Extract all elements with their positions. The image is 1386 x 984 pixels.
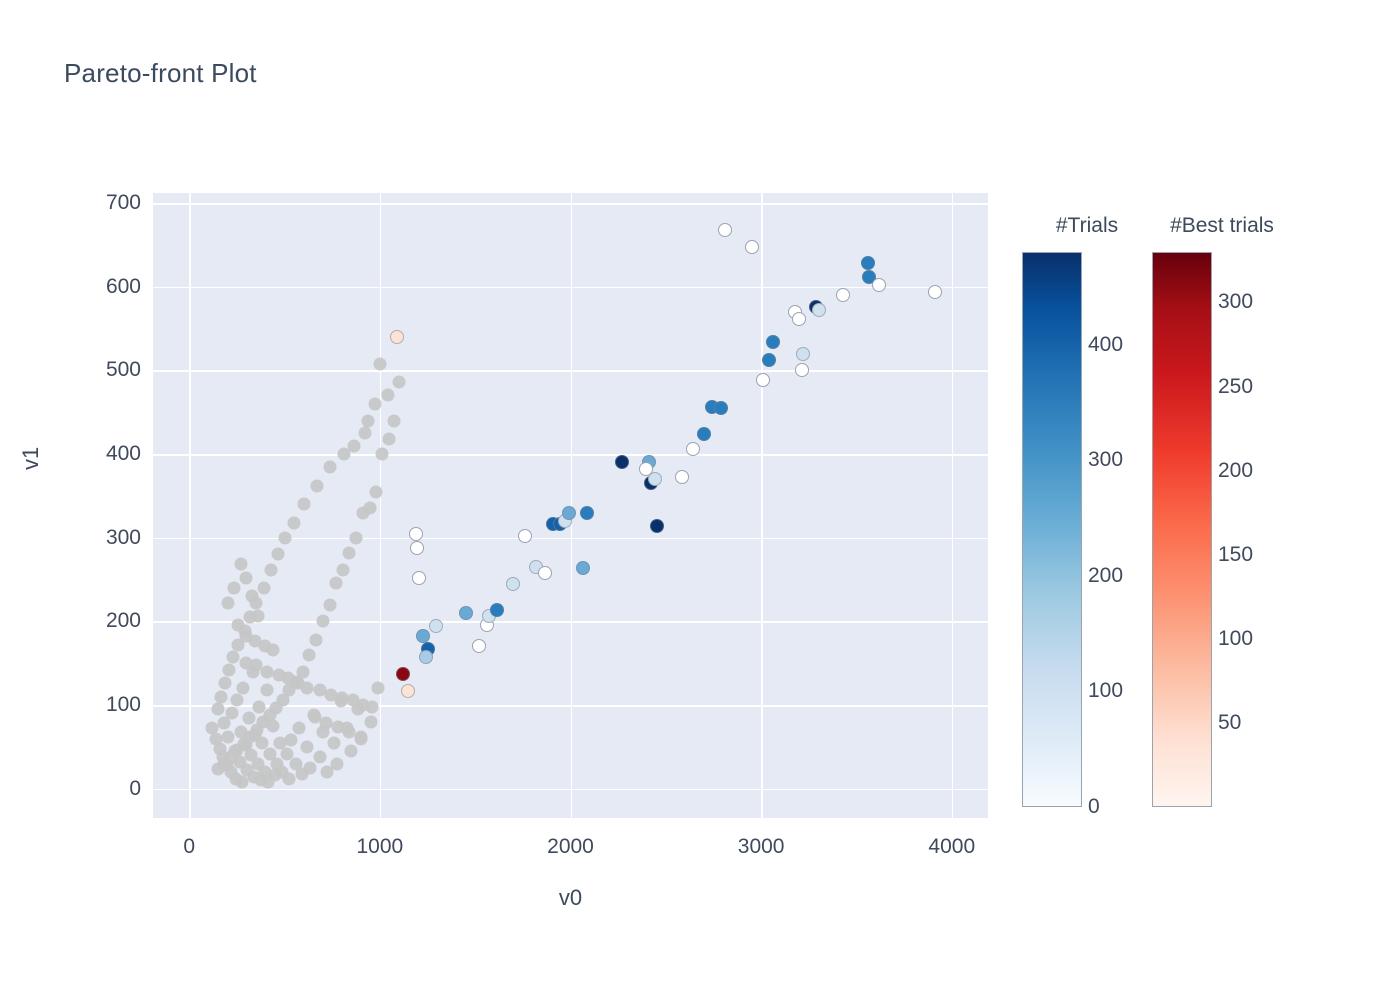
trial-point[interactable] [219, 677, 232, 690]
page-title: Pareto-front Plot [64, 58, 257, 89]
y-tick-label: 300 [106, 526, 141, 550]
scatter-points [153, 193, 988, 818]
trial-point[interactable] [336, 563, 349, 576]
trial-point[interactable] [344, 745, 357, 758]
trial-point[interactable] [362, 414, 375, 427]
y-tick-label: 600 [106, 275, 141, 299]
best-trial-point[interactable] [796, 347, 810, 361]
colorbar-tick-label: 100 [1218, 627, 1253, 651]
trial-point[interactable] [251, 610, 264, 623]
trial-point[interactable] [310, 479, 323, 492]
colorbar-tick-label: 50 [1218, 711, 1241, 735]
colorbar-tick-label: 200 [1088, 564, 1123, 588]
colorbar-tick-label: 300 [1088, 448, 1123, 472]
best-trial-point[interactable] [745, 240, 759, 254]
x-axis-ticks: 01000200030004000 [153, 835, 988, 865]
best-trial-point[interactable] [718, 223, 732, 237]
colorbar-tick-label: 250 [1218, 375, 1253, 399]
trial-point[interactable] [372, 682, 385, 695]
y-axis-ticks: 0100200300400500600700 [0, 193, 141, 818]
best-trial-point[interactable] [697, 427, 711, 441]
trial-point[interactable] [354, 730, 367, 743]
colorbar-tick-label: 150 [1218, 543, 1253, 567]
best-trial-point[interactable] [401, 684, 415, 698]
trial-point[interactable] [303, 648, 316, 661]
colorbar-best-trials[interactable]: #Best trials 50100150200250300 [1152, 214, 1292, 814]
trial-point[interactable] [222, 730, 235, 743]
trial-point[interactable] [287, 516, 300, 529]
trial-point[interactable] [350, 531, 363, 544]
trial-point[interactable] [356, 506, 369, 519]
colorbar-trials-title: #Trials [1056, 214, 1118, 238]
best-trial-point[interactable] [714, 401, 728, 415]
best-trial-point[interactable] [861, 256, 875, 270]
best-trial-point[interactable] [410, 541, 424, 555]
trial-point[interactable] [365, 715, 378, 728]
trial-point[interactable] [314, 750, 327, 763]
colorbar-best-trials-gradient[interactable] [1152, 252, 1212, 807]
trial-point[interactable] [232, 618, 245, 631]
best-trial-point[interactable] [490, 603, 504, 617]
trial-point[interactable] [223, 663, 236, 676]
trial-point[interactable] [228, 581, 241, 594]
best-trial-point[interactable] [576, 561, 590, 575]
trial-point[interactable] [368, 397, 381, 410]
colorbar-tick-label: 400 [1088, 333, 1123, 357]
colorbar-tick-label: 0 [1088, 795, 1100, 819]
best-trial-point[interactable] [792, 312, 806, 326]
best-trial-point[interactable] [756, 373, 770, 387]
trial-point[interactable] [278, 531, 291, 544]
best-trial-point[interactable] [390, 330, 404, 344]
trial-point[interactable] [301, 682, 314, 695]
trial-point[interactable] [257, 581, 270, 594]
y-tick-label: 100 [106, 693, 141, 717]
plot-area [153, 193, 988, 818]
trial-point[interactable] [366, 700, 379, 713]
trial-point[interactable] [283, 772, 296, 785]
best-trial-point[interactable] [686, 442, 700, 456]
best-trial-point[interactable] [506, 577, 520, 591]
trial-point[interactable] [304, 761, 317, 774]
best-trial-point[interactable] [615, 455, 629, 469]
trial-point[interactable] [388, 414, 401, 427]
trial-point[interactable] [265, 563, 278, 576]
trial-point[interactable] [293, 722, 306, 735]
trial-point[interactable] [246, 590, 259, 603]
trial-point[interactable] [316, 615, 329, 628]
colorbar-trials-gradient[interactable] [1022, 252, 1082, 807]
trial-point[interactable] [301, 740, 314, 753]
trial-point[interactable] [237, 682, 250, 695]
best-trial-point[interactable] [538, 566, 552, 580]
trial-point[interactable] [211, 762, 224, 775]
best-trial-point[interactable] [812, 303, 826, 317]
best-trial-point[interactable] [872, 278, 886, 292]
trial-point[interactable] [358, 427, 371, 440]
best-trial-point[interactable] [412, 571, 426, 585]
trial-point[interactable] [327, 736, 340, 749]
best-trial-point[interactable] [459, 606, 473, 620]
trial-point[interactable] [376, 448, 389, 461]
trial-point[interactable] [298, 498, 311, 511]
best-trial-point[interactable] [836, 288, 850, 302]
x-tick-label: 0 [183, 835, 195, 859]
y-tick-label: 0 [129, 777, 141, 801]
trial-point[interactable] [348, 439, 361, 452]
colorbar-tick-label: 300 [1218, 290, 1253, 314]
best-trial-point[interactable] [766, 335, 780, 349]
best-trial-point[interactable] [409, 527, 423, 541]
trial-point[interactable] [343, 546, 356, 559]
trial-point[interactable] [323, 598, 336, 611]
trial-point[interactable] [260, 683, 273, 696]
pareto-front-chart: Pareto-front Plot v1 0100200300400500600… [0, 0, 1386, 984]
best-trial-point[interactable] [795, 363, 809, 377]
trial-point[interactable] [382, 389, 395, 402]
trial-point[interactable] [272, 548, 285, 561]
trial-point[interactable] [331, 757, 344, 770]
x-tick-label: 1000 [357, 835, 404, 859]
best-trial-point[interactable] [648, 472, 662, 486]
y-tick-label: 700 [106, 191, 141, 215]
best-trial-point[interactable] [580, 506, 594, 520]
trial-point[interactable] [324, 460, 337, 473]
colorbar-trials[interactable]: #Trials 0100200300400 [1022, 214, 1152, 814]
best-trial-point[interactable] [518, 529, 532, 543]
trial-point[interactable] [227, 650, 240, 663]
trial-point[interactable] [242, 712, 255, 725]
best-trial-point[interactable] [562, 506, 576, 520]
trial-point[interactable] [240, 571, 253, 584]
y-tick-label: 200 [106, 609, 141, 633]
x-tick-label: 2000 [547, 835, 594, 859]
best-trial-point[interactable] [675, 470, 689, 484]
trial-point[interactable] [225, 707, 238, 720]
best-trial-point[interactable] [472, 639, 486, 653]
trial-point[interactable] [215, 690, 228, 703]
x-axis-label: v0 [153, 885, 988, 911]
trial-point[interactable] [222, 596, 235, 609]
y-tick-label: 400 [106, 442, 141, 466]
best-trial-point[interactable] [928, 285, 942, 299]
best-trial-point[interactable] [429, 619, 443, 633]
best-trial-point[interactable] [396, 667, 410, 681]
y-tick-label: 500 [106, 358, 141, 382]
best-trial-point[interactable] [762, 353, 776, 367]
trial-point[interactable] [330, 576, 343, 589]
best-trial-point[interactable] [650, 519, 664, 533]
colorbar-best-trials-title: #Best trials [1170, 214, 1274, 238]
trial-point[interactable] [373, 357, 386, 370]
trial-point[interactable] [383, 432, 396, 445]
trial-point[interactable] [266, 643, 279, 656]
colorbar-tick-label: 200 [1218, 459, 1253, 483]
trial-point[interactable] [211, 703, 224, 716]
trial-point[interactable] [234, 558, 247, 571]
trial-point[interactable] [309, 633, 322, 646]
colorbar-tick-label: 100 [1088, 679, 1123, 703]
trial-point[interactable] [392, 376, 405, 389]
best-trial-point[interactable] [419, 650, 433, 664]
x-tick-label: 3000 [738, 835, 785, 859]
trial-point[interactable] [285, 734, 298, 747]
trial-point[interactable] [230, 694, 243, 707]
trial-point[interactable] [370, 485, 383, 498]
x-tick-label: 4000 [928, 835, 975, 859]
